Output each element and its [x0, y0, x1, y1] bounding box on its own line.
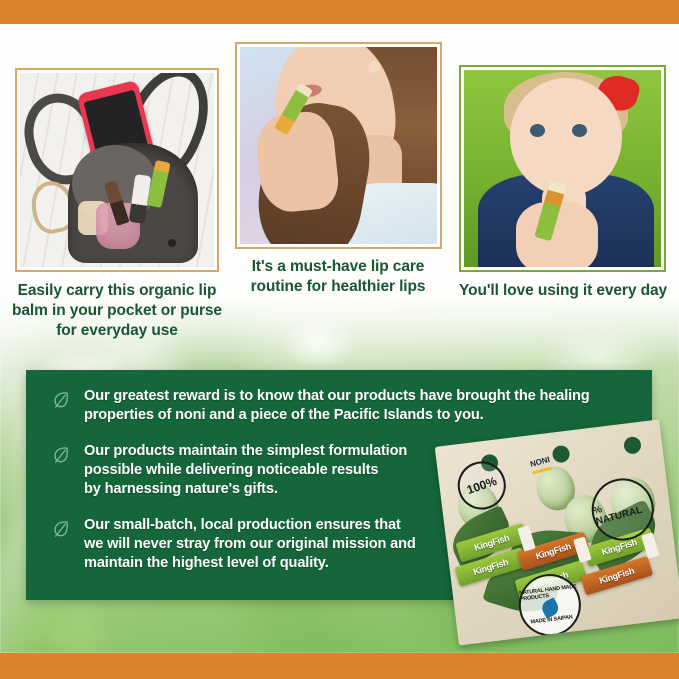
marketing-infographic: Easily carry this organic lip balm in yo…	[0, 0, 679, 679]
earring-icon	[368, 61, 380, 73]
toddler-face-icon	[510, 78, 622, 196]
leaf-icon	[50, 518, 72, 540]
bottom-orange-band	[0, 653, 679, 679]
hang-hole-icon	[623, 436, 642, 455]
promise-text: Our greatest reward is to know that our …	[84, 387, 632, 425]
photo-purse-flatlay	[15, 68, 219, 272]
product-pack-photo: KingFish KingFish KingFish KingFish King…	[435, 419, 679, 662]
caption-photo-toddler: You'll love using it every day	[455, 281, 671, 301]
bag-snap-icon	[168, 239, 176, 247]
eye-icon	[572, 124, 587, 137]
leaf-icon	[50, 389, 72, 411]
promise-bullet: Our greatest reward is to know that our …	[46, 387, 632, 425]
photo-toddler	[459, 65, 666, 272]
tube-cap-icon	[641, 532, 659, 558]
caption-photo-woman: It's a must-have lip care routine for he…	[230, 257, 446, 297]
caption-photo-purse: Easily carry this organic lip balm in yo…	[10, 281, 224, 340]
top-orange-band	[0, 0, 679, 24]
photo-woman-applying	[235, 42, 442, 249]
eye-icon	[530, 124, 545, 137]
leaf-icon	[50, 444, 72, 466]
